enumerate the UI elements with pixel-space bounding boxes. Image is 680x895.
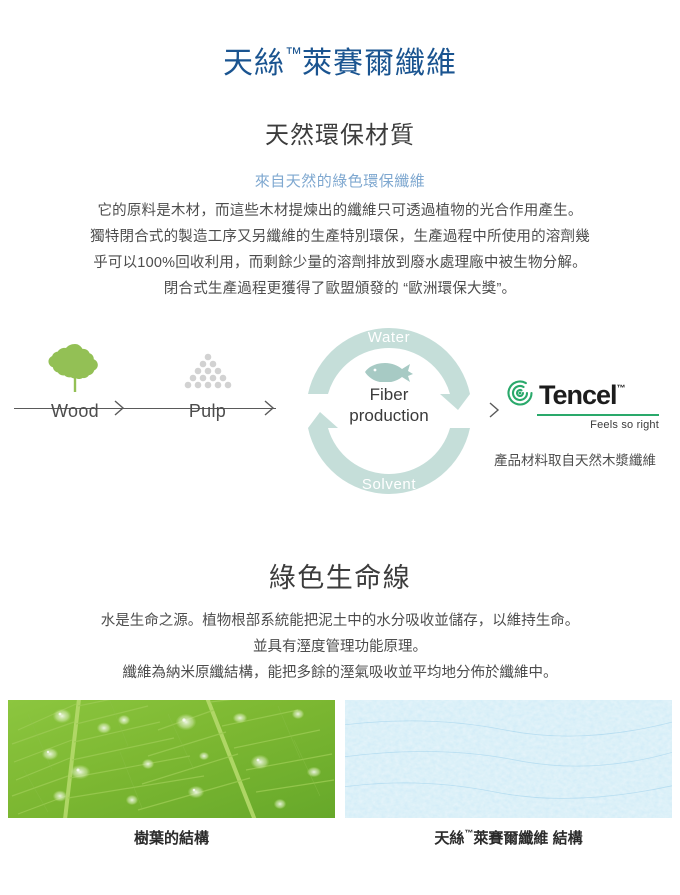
process-node-wood: Wood [20,340,130,422]
cycle-label-solvent: Solvent [300,476,478,493]
intro-line-1: 它的原料是木材，而這些木材提煉出的纖維只可透過植物的光合作用產生。 [40,198,640,224]
tencel-underline [537,414,659,416]
chevron-right-icon [487,400,501,420]
cycle-label-water: Water [300,329,478,346]
page-title-suffix: 萊賽爾纖維 [302,47,457,80]
section2-line-2: 並具有溼度管理功能原理。 [40,634,640,660]
tencel-wordmark: Tencel™ [539,380,626,411]
cycle-center-line-2: production [300,405,478,426]
intro-line-3: 乎可以100%回收利用，而剩餘少量的溶劑排放到廢水處理廠中被生物分解。 [40,250,640,276]
intro-line-4: 閉合式生產過程更獲得了歐盟頒發的 “歐洲環保大獎”。 [40,276,640,302]
chevron-right-icon [262,398,276,418]
photo-caption-fiber: 天絲™萊賽爾纖維 結構 [345,827,672,848]
section2-paragraphs: 水是生命之源。植物根部系統能把泥土中的水分吸收並儲存，以維持生命。 並具有溼度管… [40,608,640,686]
tencel-fiber-structure-photo [345,700,672,818]
section2-title: 綠色生命線 [0,556,680,595]
page-title-prefix: 天絲 [223,47,285,80]
photo-captions: 樹葉的結構 天絲™萊賽爾纖維 結構 [8,827,672,848]
tencel-logo: Tencel™ Feels so right [505,378,665,431]
intro-paragraphs: 它的原料是木材，而這些木材提煉出的纖維只可透過植物的光合作用產生。 獨特閉合式的… [40,198,640,302]
lead-text: 來自天然的綠色環保纖維 [0,170,680,191]
tencel-spiral-icon [505,378,535,413]
process-node-label: Pulp [155,401,260,422]
photo-caption-leaf: 樹葉的結構 [8,827,335,848]
tencel-caption: 產品材料取自天然木漿纖維 [470,449,680,469]
caption-prefix: 天絲 [434,830,464,847]
trademark-symbol: ™ [617,383,626,393]
caption-text: 樹葉的結構 [134,830,209,847]
process-node-pulp: Pulp [155,340,260,422]
page-subtitle: 天然環保材質 [0,115,680,150]
fiber-production-cycle: Water Solvent Fiber production [300,322,478,500]
caption-suffix: 萊賽爾纖維 結構 [473,830,582,847]
trademark-symbol: ™ [285,44,302,63]
section2-line-3: 纖維為納米原纖結構，能把多餘的溼氣吸收並平均地分佈於纖維中。 [40,660,640,686]
photo-row [8,700,672,820]
process-diagram: Wood Pulp Water [0,326,680,511]
cycle-center-label: Fiber production [300,384,478,426]
fish-icon [300,360,478,387]
process-node-label: Wood [20,401,130,422]
intro-line-2: 獨特閉合式的製造工序又另纖維的生產特別環保，生產過程中所使用的溶劑幾 [40,224,640,250]
page-title: 天絲™萊賽爾纖維 [0,44,680,82]
section2-line-1: 水是生命之源。植物根部系統能把泥土中的水分吸收並儲存，以維持生命。 [40,608,640,634]
leaf-macro-photo [8,700,335,818]
cycle-center-line-1: Fiber [300,384,478,405]
pulp-dots-icon [155,340,260,396]
tencel-tagline: Feels so right [505,419,659,431]
tree-icon [20,340,130,396]
